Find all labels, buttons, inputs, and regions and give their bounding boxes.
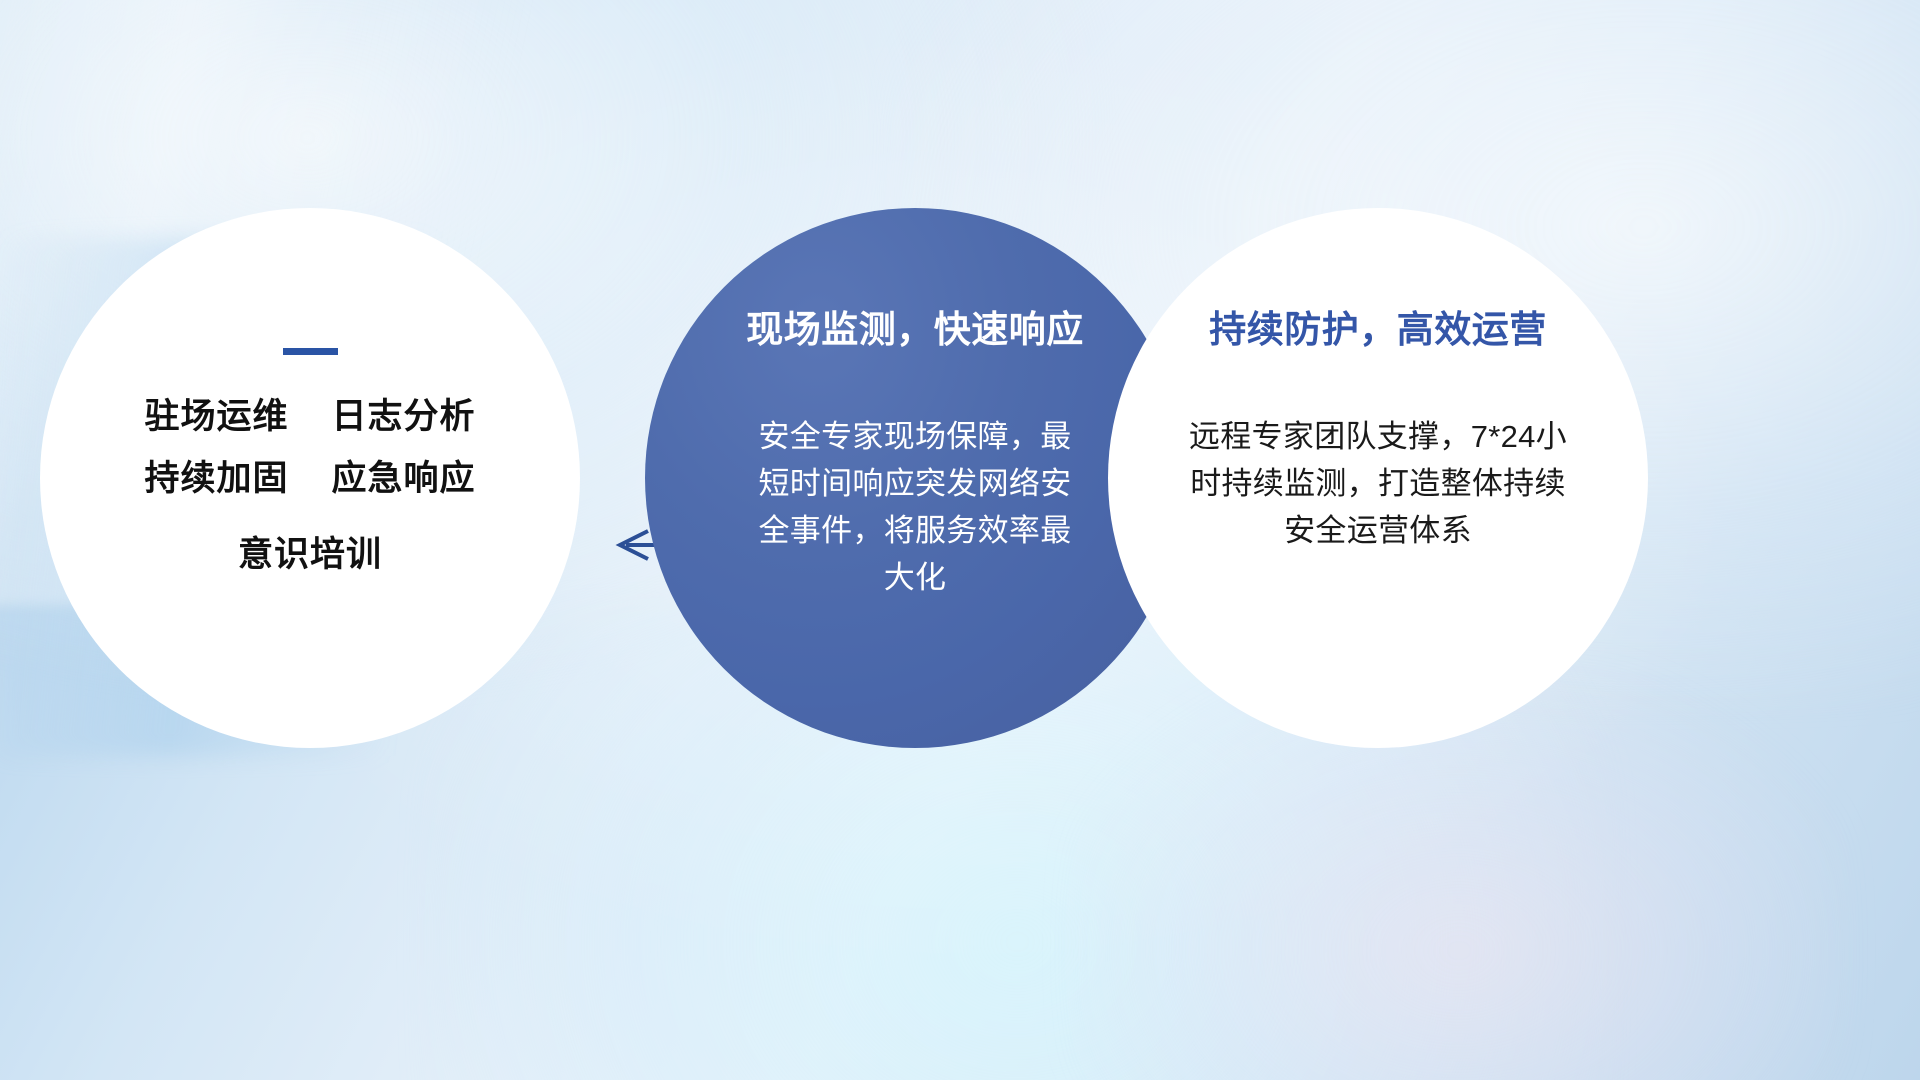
slide-canvas: 驻场运维 日志分析 持续加固 应急响应 意识培训 现场监测，快速响应 安全专家现… [0,0,1920,1080]
continuous-protection-circle[interactable]: 持续防护，高效运营 远程专家团队支撑，7*24小时持续监测，打造整体持续安全运营… [1108,208,1648,748]
dash-divider [283,348,338,355]
capability-line-3: 意识培训 [238,537,382,572]
onsite-monitoring-circle[interactable]: 现场监测，快速响应 安全专家现场保障，最短时间响应突发网络安全事件，将服务效率最… [645,208,1185,748]
continuous-protection-title: 持续防护，高效运营 [1209,310,1547,351]
capability-circle-left[interactable]: 驻场运维 日志分析 持续加固 应急响应 意识培训 [40,208,580,748]
onsite-monitoring-title: 现场监测，快速响应 [746,310,1084,351]
capability-line-2: 持续加固 应急响应 [145,461,476,496]
continuous-protection-body: 远程专家团队支撑，7*24小时持续监测，打造整体持续安全运营体系 [1178,413,1578,554]
onsite-monitoring-body: 安全专家现场保障，最短时间响应突发网络安全事件，将服务效率最大化 [745,413,1085,601]
capability-line-1: 驻场运维 日志分析 [145,399,476,434]
